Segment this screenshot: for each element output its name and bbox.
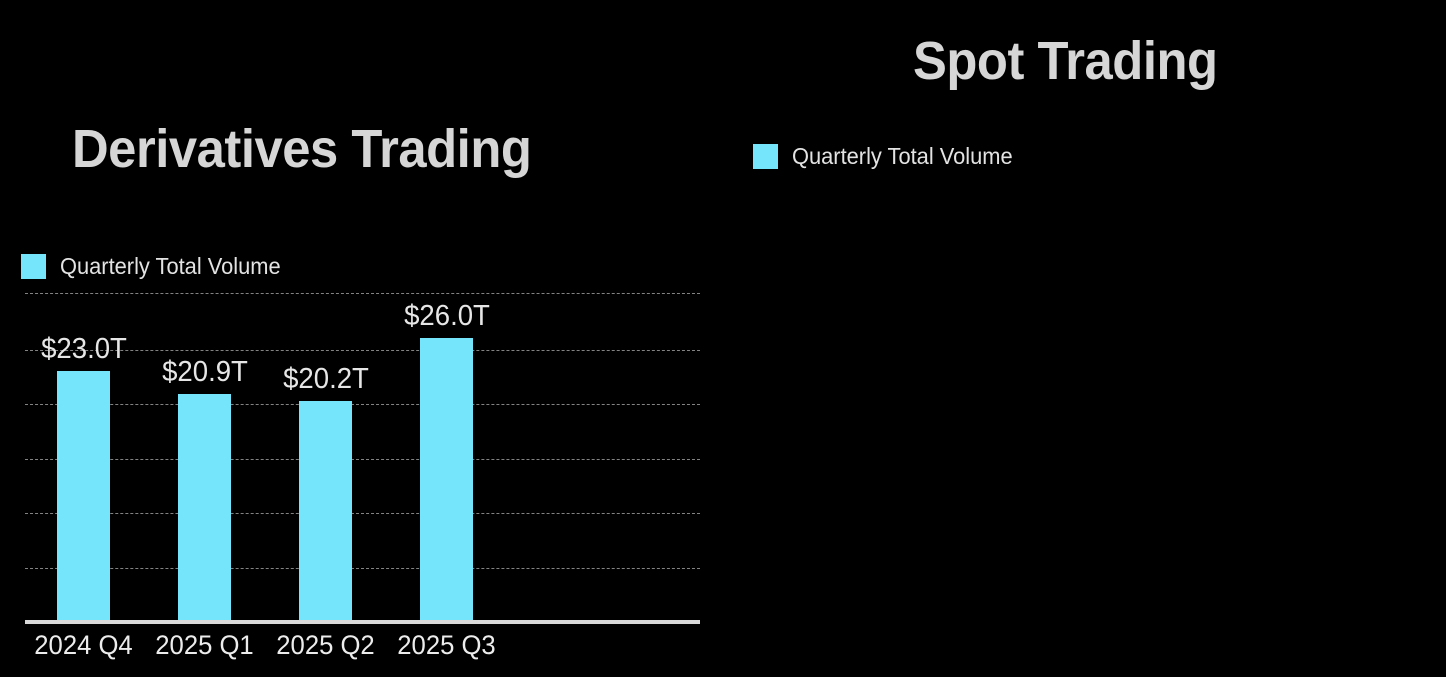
bar-value-derivatives-1: $20.9T (162, 358, 248, 387)
spot-chart-title: Spot Trading (913, 34, 1218, 88)
xlabel-derivatives-1: 2025 Q1 (149, 630, 260, 661)
spot-chart-panel: Spot Trading Quarterly Total Volume $5.3… (723, 0, 1446, 677)
derivatives-plot-area: $23.0T $20.9T $20.2T $26.0T (25, 290, 700, 624)
derivatives-chart-panel: Derivatives Trading Quarterly Total Volu… (0, 0, 723, 677)
derivatives-legend: Quarterly Total Volume (21, 253, 292, 280)
legend-color-swatch-icon (21, 254, 46, 279)
bar-derivatives-3[interactable] (420, 338, 473, 620)
spot-legend: Quarterly Total Volume (753, 143, 1024, 170)
legend-color-swatch-icon (753, 144, 778, 169)
bar-derivatives-1[interactable] (178, 394, 231, 620)
spot-legend-label: Quarterly Total Volume (792, 143, 1013, 170)
xlabel-derivatives-2: 2025 Q2 (270, 630, 381, 661)
xlabel-derivatives-3: 2025 Q3 (391, 630, 502, 661)
derivatives-bars: $23.0T $20.9T $20.2T $26.0T (25, 290, 700, 620)
derivatives-x-axis-line (25, 620, 700, 624)
bar-derivatives-0[interactable] (57, 371, 110, 620)
xlabel-derivatives-0: 2024 Q4 (28, 630, 139, 661)
derivatives-chart-title: Derivatives Trading (72, 122, 531, 176)
bar-value-derivatives-3: $26.0T (404, 302, 490, 331)
bar-value-derivatives-2: $20.2T (283, 365, 369, 394)
derivatives-x-axis-labels: 2024 Q4 2025 Q1 2025 Q2 2025 Q3 (25, 630, 700, 670)
derivatives-legend-label: Quarterly Total Volume (60, 253, 281, 280)
bar-value-derivatives-0: $23.0T (41, 335, 127, 364)
bar-derivatives-2[interactable] (299, 401, 352, 620)
